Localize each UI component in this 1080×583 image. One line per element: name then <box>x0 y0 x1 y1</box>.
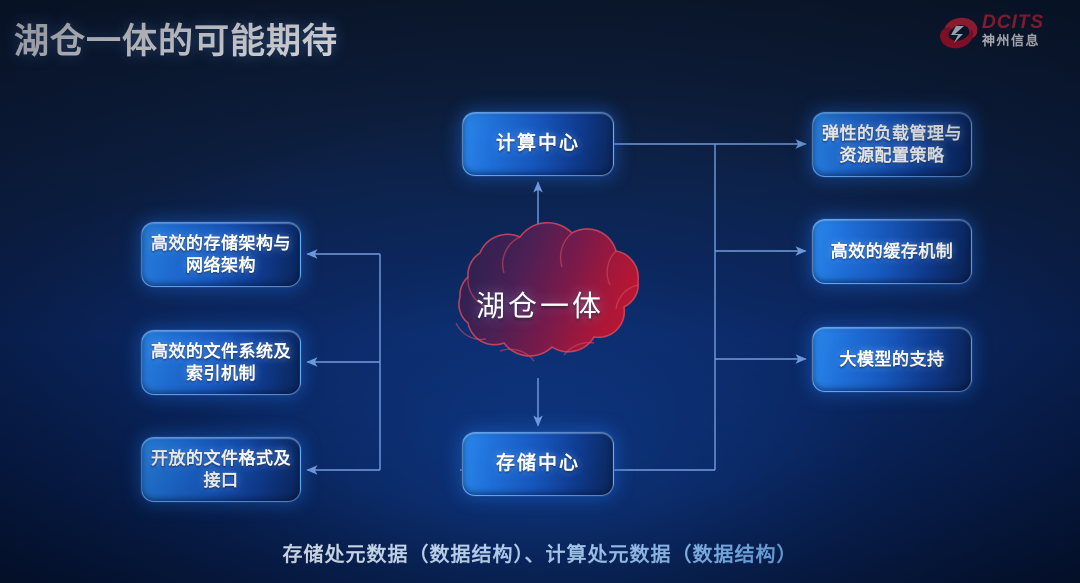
logo-text-cn: 神州信息 <box>982 33 1066 49</box>
node-right-cache-mechanism[interactable]: 高效的缓存机制 <box>812 219 972 284</box>
dcits-swoosh-icon <box>938 14 980 52</box>
node-right-elastic-workload[interactable]: 弹性的负载管理与资源配置策略 <box>812 112 972 177</box>
node-storage-center[interactable]: 存储中心 <box>462 432 614 496</box>
cloud-shape-icon <box>408 215 672 390</box>
node-left-storage-architecture[interactable]: 高效的存储架构与网络架构 <box>141 222 301 287</box>
slide-canvas: 湖仓一体的可能期待 DCITS 神州信息 <box>0 0 1080 583</box>
node-left-file-system-index[interactable]: 高效的文件系统及索引机制 <box>141 330 301 395</box>
footer-caption: 存储处元数据（数据结构）、计算处元数据（数据结构） <box>0 538 1080 567</box>
brand-logo: DCITS 神州信息 <box>938 10 1064 58</box>
logo-wordmark: DCITS 神州信息 <box>982 12 1066 49</box>
page-title: 湖仓一体的可能期待 <box>14 13 338 64</box>
node-compute-center[interactable]: 计算中心 <box>462 112 614 176</box>
node-right-large-model-support[interactable]: 大模型的支持 <box>812 327 972 392</box>
node-left-open-file-format[interactable]: 开放的文件格式及接口 <box>141 437 301 502</box>
logo-text-en: DCITS <box>982 12 1066 33</box>
center-cloud: 湖仓一体 <box>408 215 672 390</box>
slide-header: 湖仓一体的可能期待 DCITS 神州信息 <box>0 0 1080 74</box>
